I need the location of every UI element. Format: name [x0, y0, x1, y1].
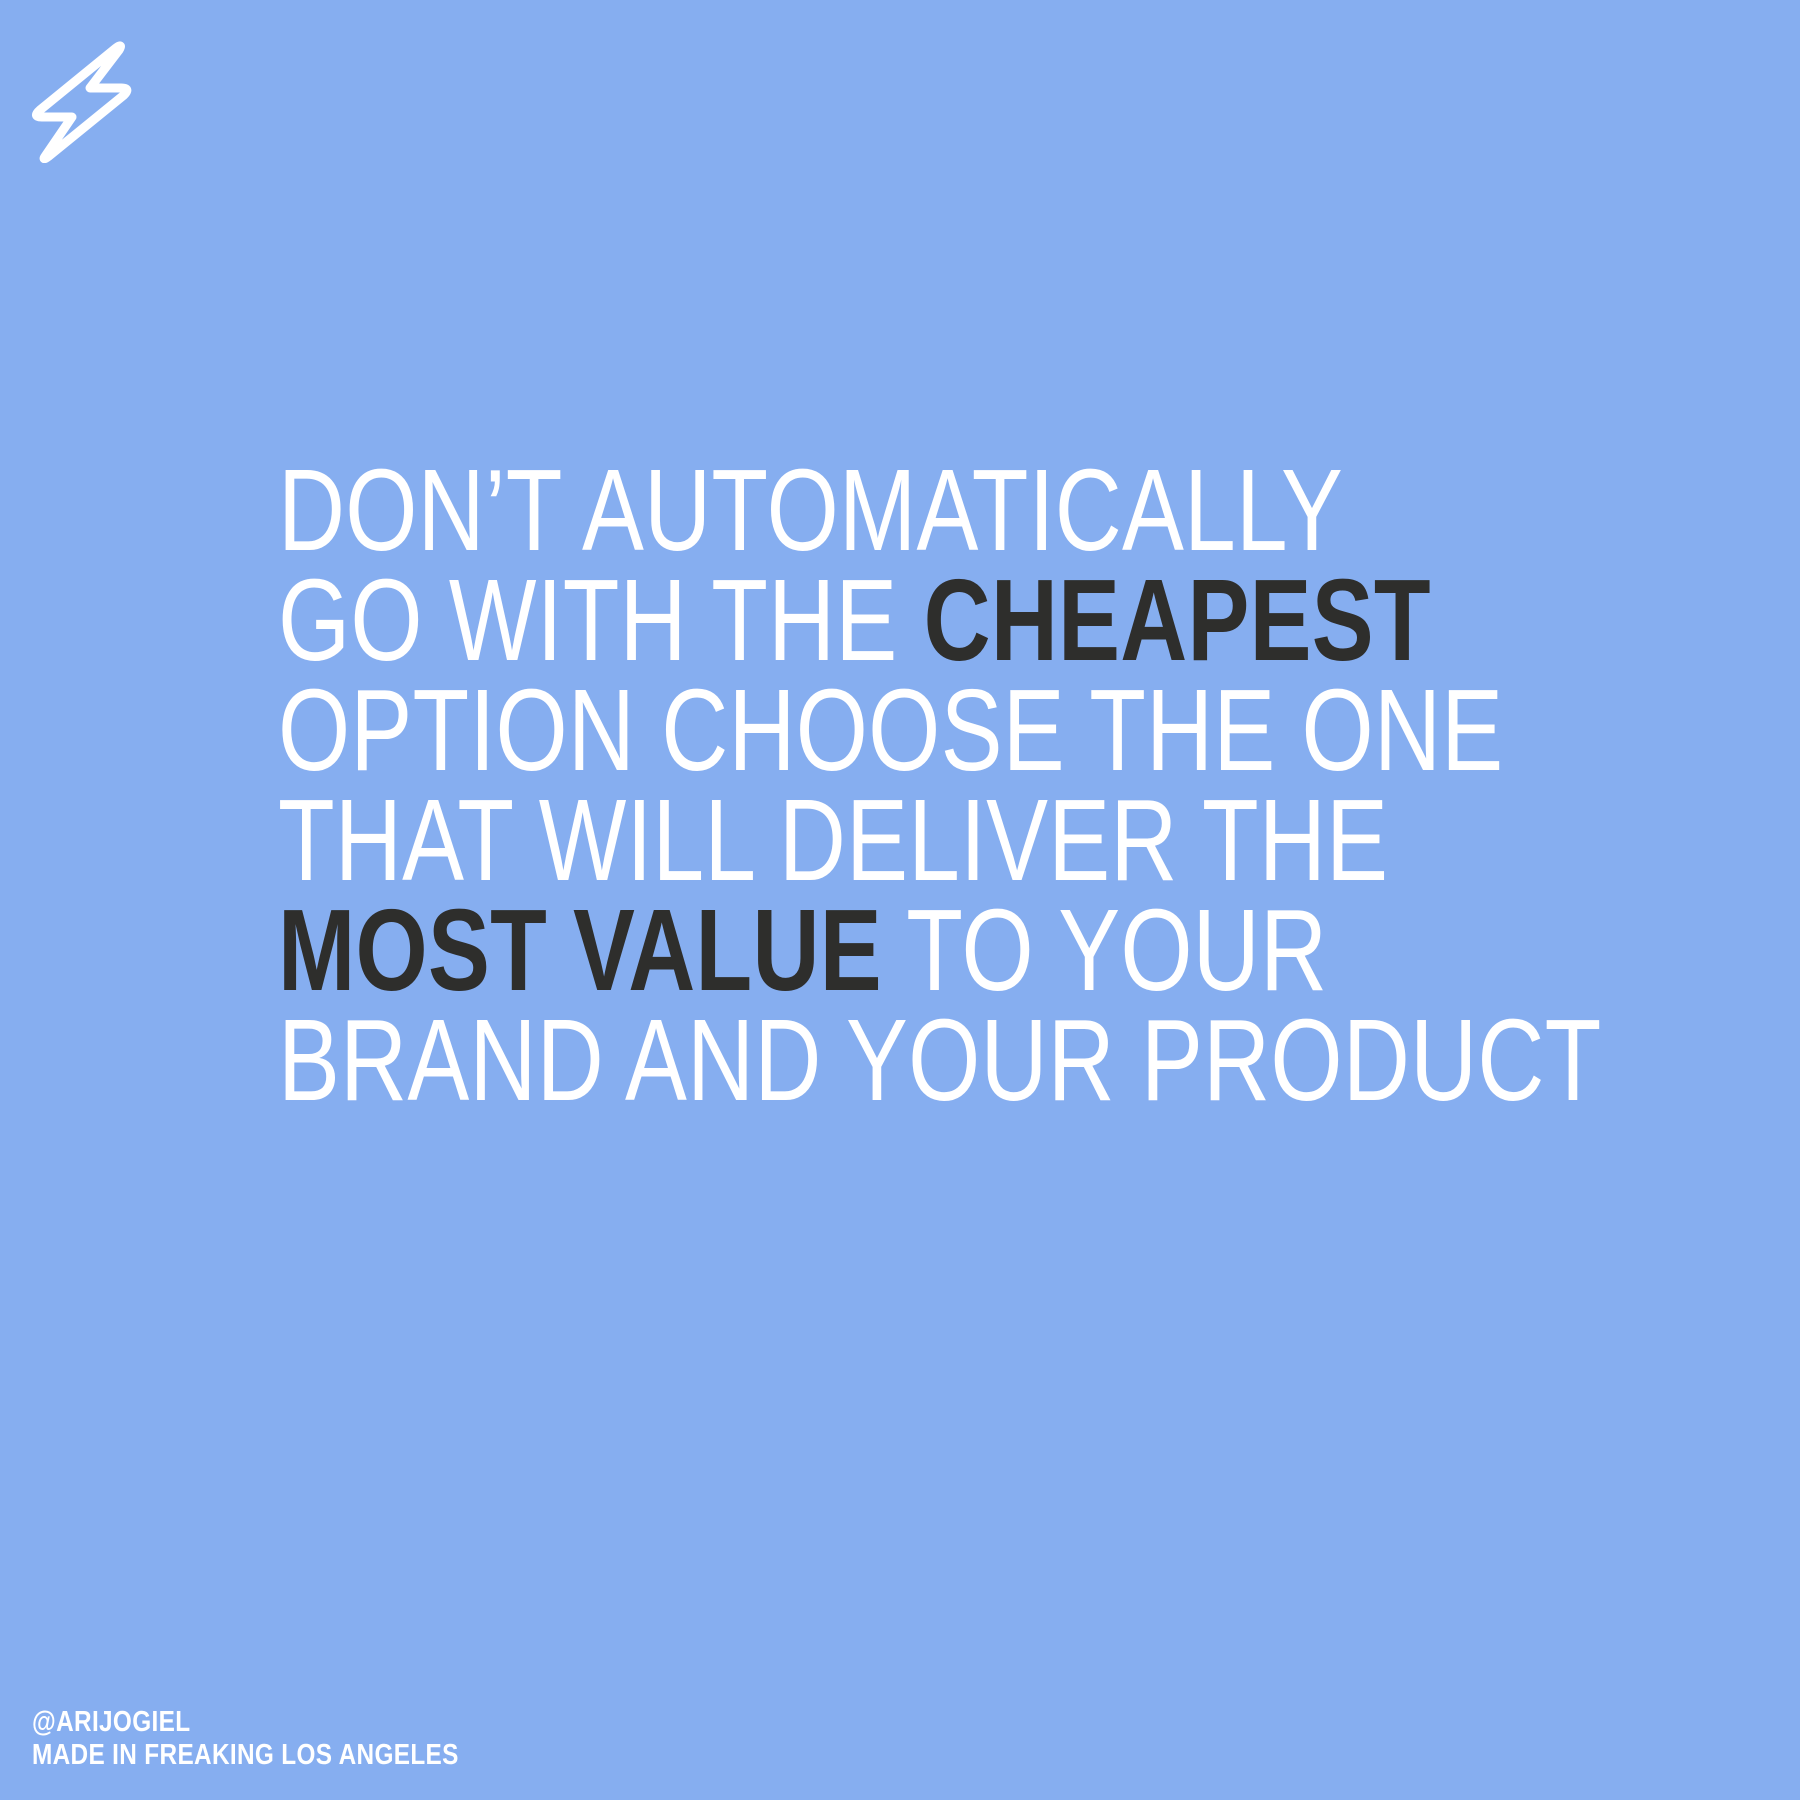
lightning-bolt-icon [24, 38, 134, 163]
footer-credit: @ARIJOGIEL MADE IN FREAKING LOS ANGELES [32, 1706, 540, 1772]
quote-card: DON’T AUTOMATICALLY GO WITH THE CHEAPEST… [0, 0, 1800, 1800]
quote-line-4: THAT WILL DELIVER THE [278, 785, 1414, 895]
footer-tagline: MADE IN FREAKING LOS ANGELES [32, 1739, 459, 1772]
quote-line-1: DON’T AUTOMATICALLY [278, 455, 1414, 565]
quote-line-3: OPTION CHOOSE THE ONE [278, 675, 1414, 785]
footer-handle: @ARIJOGIEL [32, 1706, 459, 1739]
quote-line-5: MOST VALUE TO YOUR [278, 895, 1414, 1005]
quote-text-block: DON’T AUTOMATICALLY GO WITH THE CHEAPEST… [278, 455, 1698, 1115]
quote-line-2: GO WITH THE CHEAPEST [278, 565, 1414, 675]
quote-line-6-text: BRAND AND YOUR PRODUCT [278, 995, 1602, 1125]
quote-line-6: BRAND AND YOUR PRODUCT [278, 1005, 1414, 1115]
